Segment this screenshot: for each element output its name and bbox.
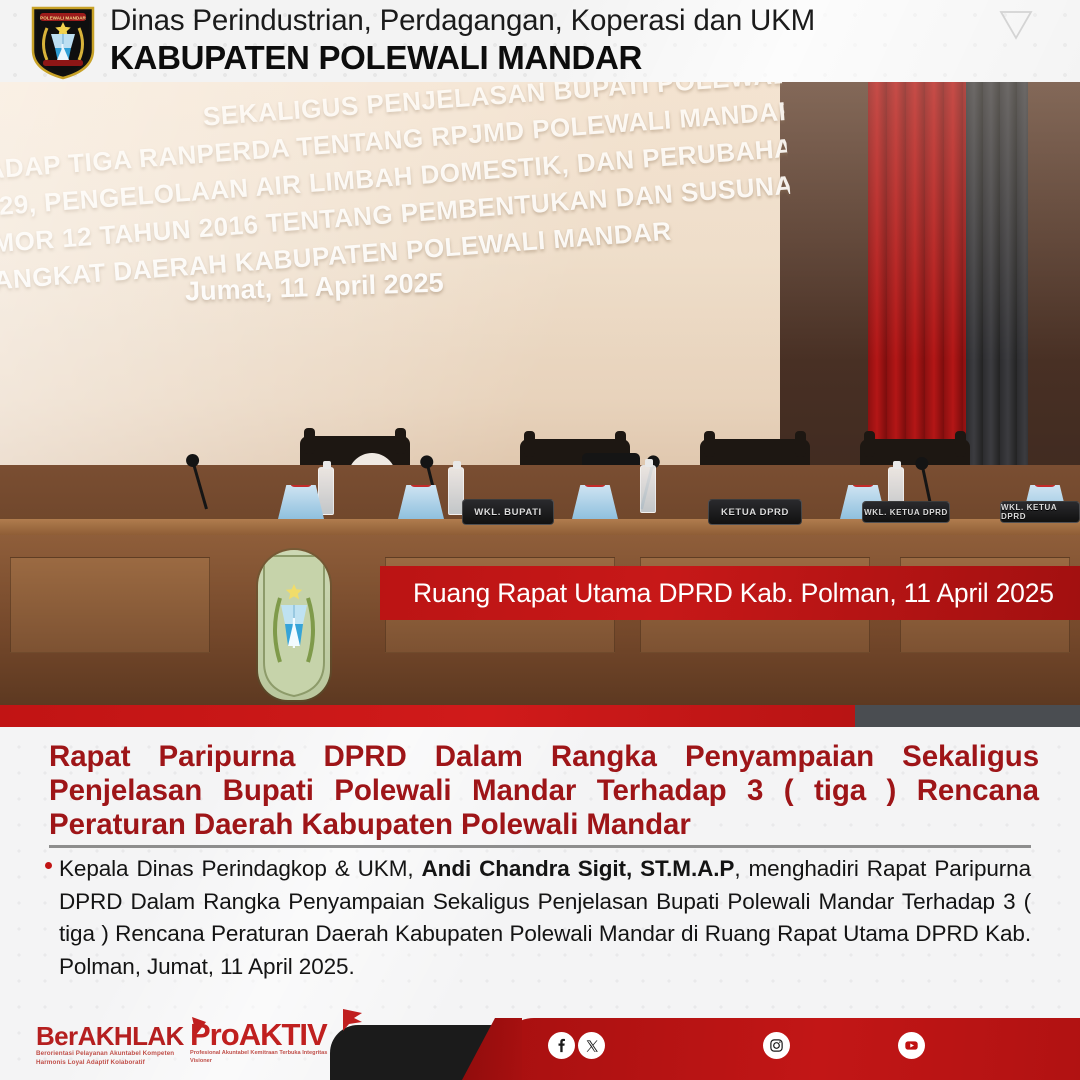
- youtube-icon[interactable]: [898, 1032, 925, 1059]
- facebook-icon[interactable]: [548, 1032, 575, 1059]
- page-footer: BerAKHLAK Berorientasi Pelayanan Akuntab…: [0, 992, 1080, 1080]
- poster-canvas: POLEWALI MANDAR Dinas Perindustrian, Per…: [0, 0, 1080, 1080]
- nameplate-ketua-dprd: KETUA DPRD: [708, 499, 802, 525]
- person-name-highlight: Andi Chandra Sigit, ST.M.A.P: [422, 856, 735, 881]
- page-header: POLEWALI MANDAR Dinas Perindustrian, Per…: [0, 0, 1080, 82]
- triangle-down-icon: [999, 10, 1033, 40]
- x-twitter-icon[interactable]: [578, 1032, 605, 1059]
- body-text-pre: Kepala Dinas Perindagkop & UKM,: [59, 856, 422, 881]
- headline-line-2: Penjelasan Bupati Polewali Mandar Terhad…: [49, 774, 1039, 808]
- water-bottle-3: [640, 465, 656, 513]
- projection-line3: OMOR 12 TAHUN 2016 TENTANG PEMBENTUKAN D…: [0, 167, 791, 264]
- projection-line4: RANGKAT DAERAH KABUPATEN POLEWALI MANDAR: [0, 204, 794, 301]
- desk-panel-1: [10, 557, 210, 653]
- proaktiv-flag-icon: [340, 1007, 364, 1033]
- content-section: Rapat Paripurna DPRD Dalam Rangka Penyam…: [0, 727, 1080, 997]
- photo-caption-bar: Ruang Rapat Utama DPRD Kab. Polman, 11 A…: [380, 566, 1080, 620]
- podium-regency-emblem-icon: [258, 550, 330, 700]
- photo-curtain-red: [868, 82, 968, 482]
- social-links: [0, 1032, 1080, 1062]
- bullet-point-icon: [45, 862, 52, 869]
- page-title: Rapat Paripurna DPRD Dalam Rangka Penyam…: [49, 740, 1039, 842]
- regency-crest-icon: POLEWALI MANDAR: [27, 4, 99, 80]
- body-paragraph: Kepala Dinas Perindagkop & UKM, Andi Cha…: [59, 853, 1031, 983]
- projection-line2: 2029, PENGELOLAAN AIR LIMBAH DOMESTIK, D…: [0, 130, 788, 227]
- projection-text: SEKALIGUS PENJELASAN BUPATI POLEWALI HAD…: [0, 82, 794, 301]
- instagram-icon[interactable]: [763, 1032, 790, 1059]
- org-name-line1: Dinas Perindustrian, Perdagangan, Kopera…: [110, 3, 815, 39]
- header-titles: Dinas Perindustrian, Perdagangan, Kopera…: [110, 3, 815, 77]
- headline-line-1: Rapat Paripurna DPRD Dalam Rangka Penyam…: [49, 740, 1039, 774]
- nameplate-wkl-ketua-dprd-2: WKL. KETUA DPRD: [1000, 501, 1080, 523]
- projection-line1: HADAP TIGA RANPERDA TENTANG RPJMD POLEWA…: [0, 93, 786, 190]
- nameplate-wkl-bupati: WKL. BUPATI: [462, 499, 554, 525]
- photo-curtain-dark: [966, 82, 1028, 477]
- projection-line0: SEKALIGUS PENJELASAN BUPATI POLEWALI: [0, 82, 783, 153]
- gray-divider-segment: [855, 705, 1080, 727]
- org-name-line2: KABUPATEN POLEWALI MANDAR: [110, 39, 815, 77]
- svg-text:POLEWALI MANDAR: POLEWALI MANDAR: [40, 16, 86, 21]
- nameplate-wkl-ketua-dprd-1: WKL. KETUA DPRD: [862, 501, 950, 523]
- projection-date: Jumat, 11 April 2025: [185, 267, 445, 307]
- content-divider-line: [49, 845, 1031, 848]
- photo-caption-text: Ruang Rapat Utama DPRD Kab. Polman, 11 A…: [380, 578, 1054, 609]
- headline-line-3: Peraturan Daerah Kabupaten Polewali Mand…: [49, 808, 1039, 842]
